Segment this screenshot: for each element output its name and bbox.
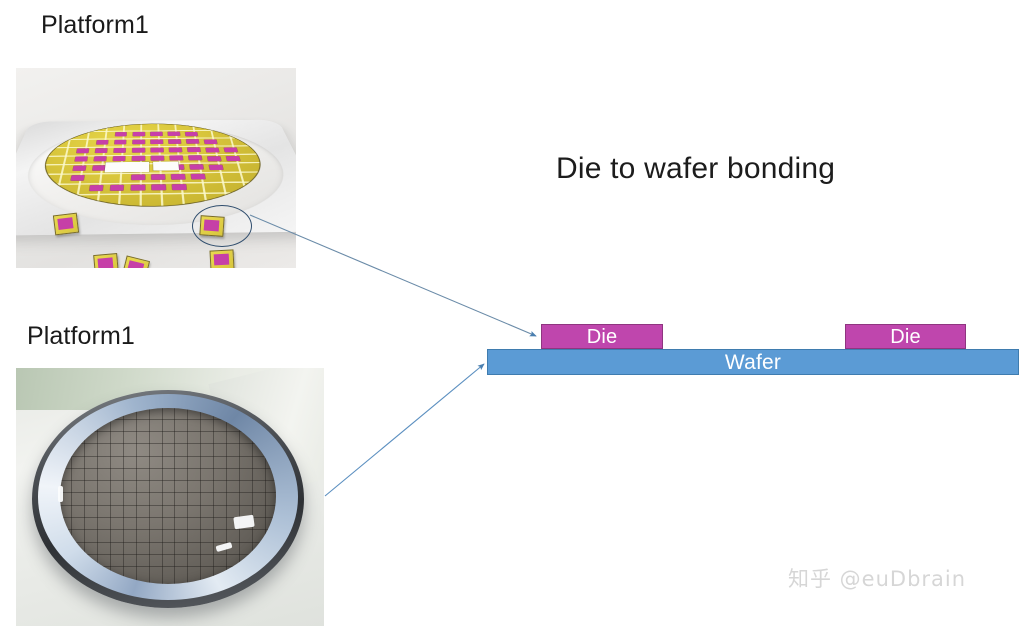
platform-label-bottom: Platform1 [27, 322, 135, 351]
photo-wafer-on-carrier [16, 68, 296, 268]
diagram-title: Die to wafer bonding [556, 152, 835, 186]
loose-die-1 [53, 213, 79, 236]
arrow-wafer-callout [325, 364, 484, 496]
platform-label-top: Platform1 [41, 11, 149, 40]
loose-die-3 [122, 255, 150, 268]
die-box-right: Die [845, 324, 966, 349]
zhihu-watermark: 知乎 @euDbrain [788, 563, 966, 593]
die-highlight-ellipse [192, 205, 252, 247]
loose-die-highlighted [209, 249, 234, 268]
slide-canvas: Platform1 [0, 0, 1033, 626]
die-box-left: Die [541, 324, 663, 349]
wafer-die-grid-surface [60, 408, 276, 584]
loose-die-2 [93, 253, 119, 268]
photo-silicon-wafer [16, 368, 324, 626]
wafer-glint-left [58, 486, 63, 502]
wafer-substrate-bar: Wafer [487, 349, 1019, 375]
